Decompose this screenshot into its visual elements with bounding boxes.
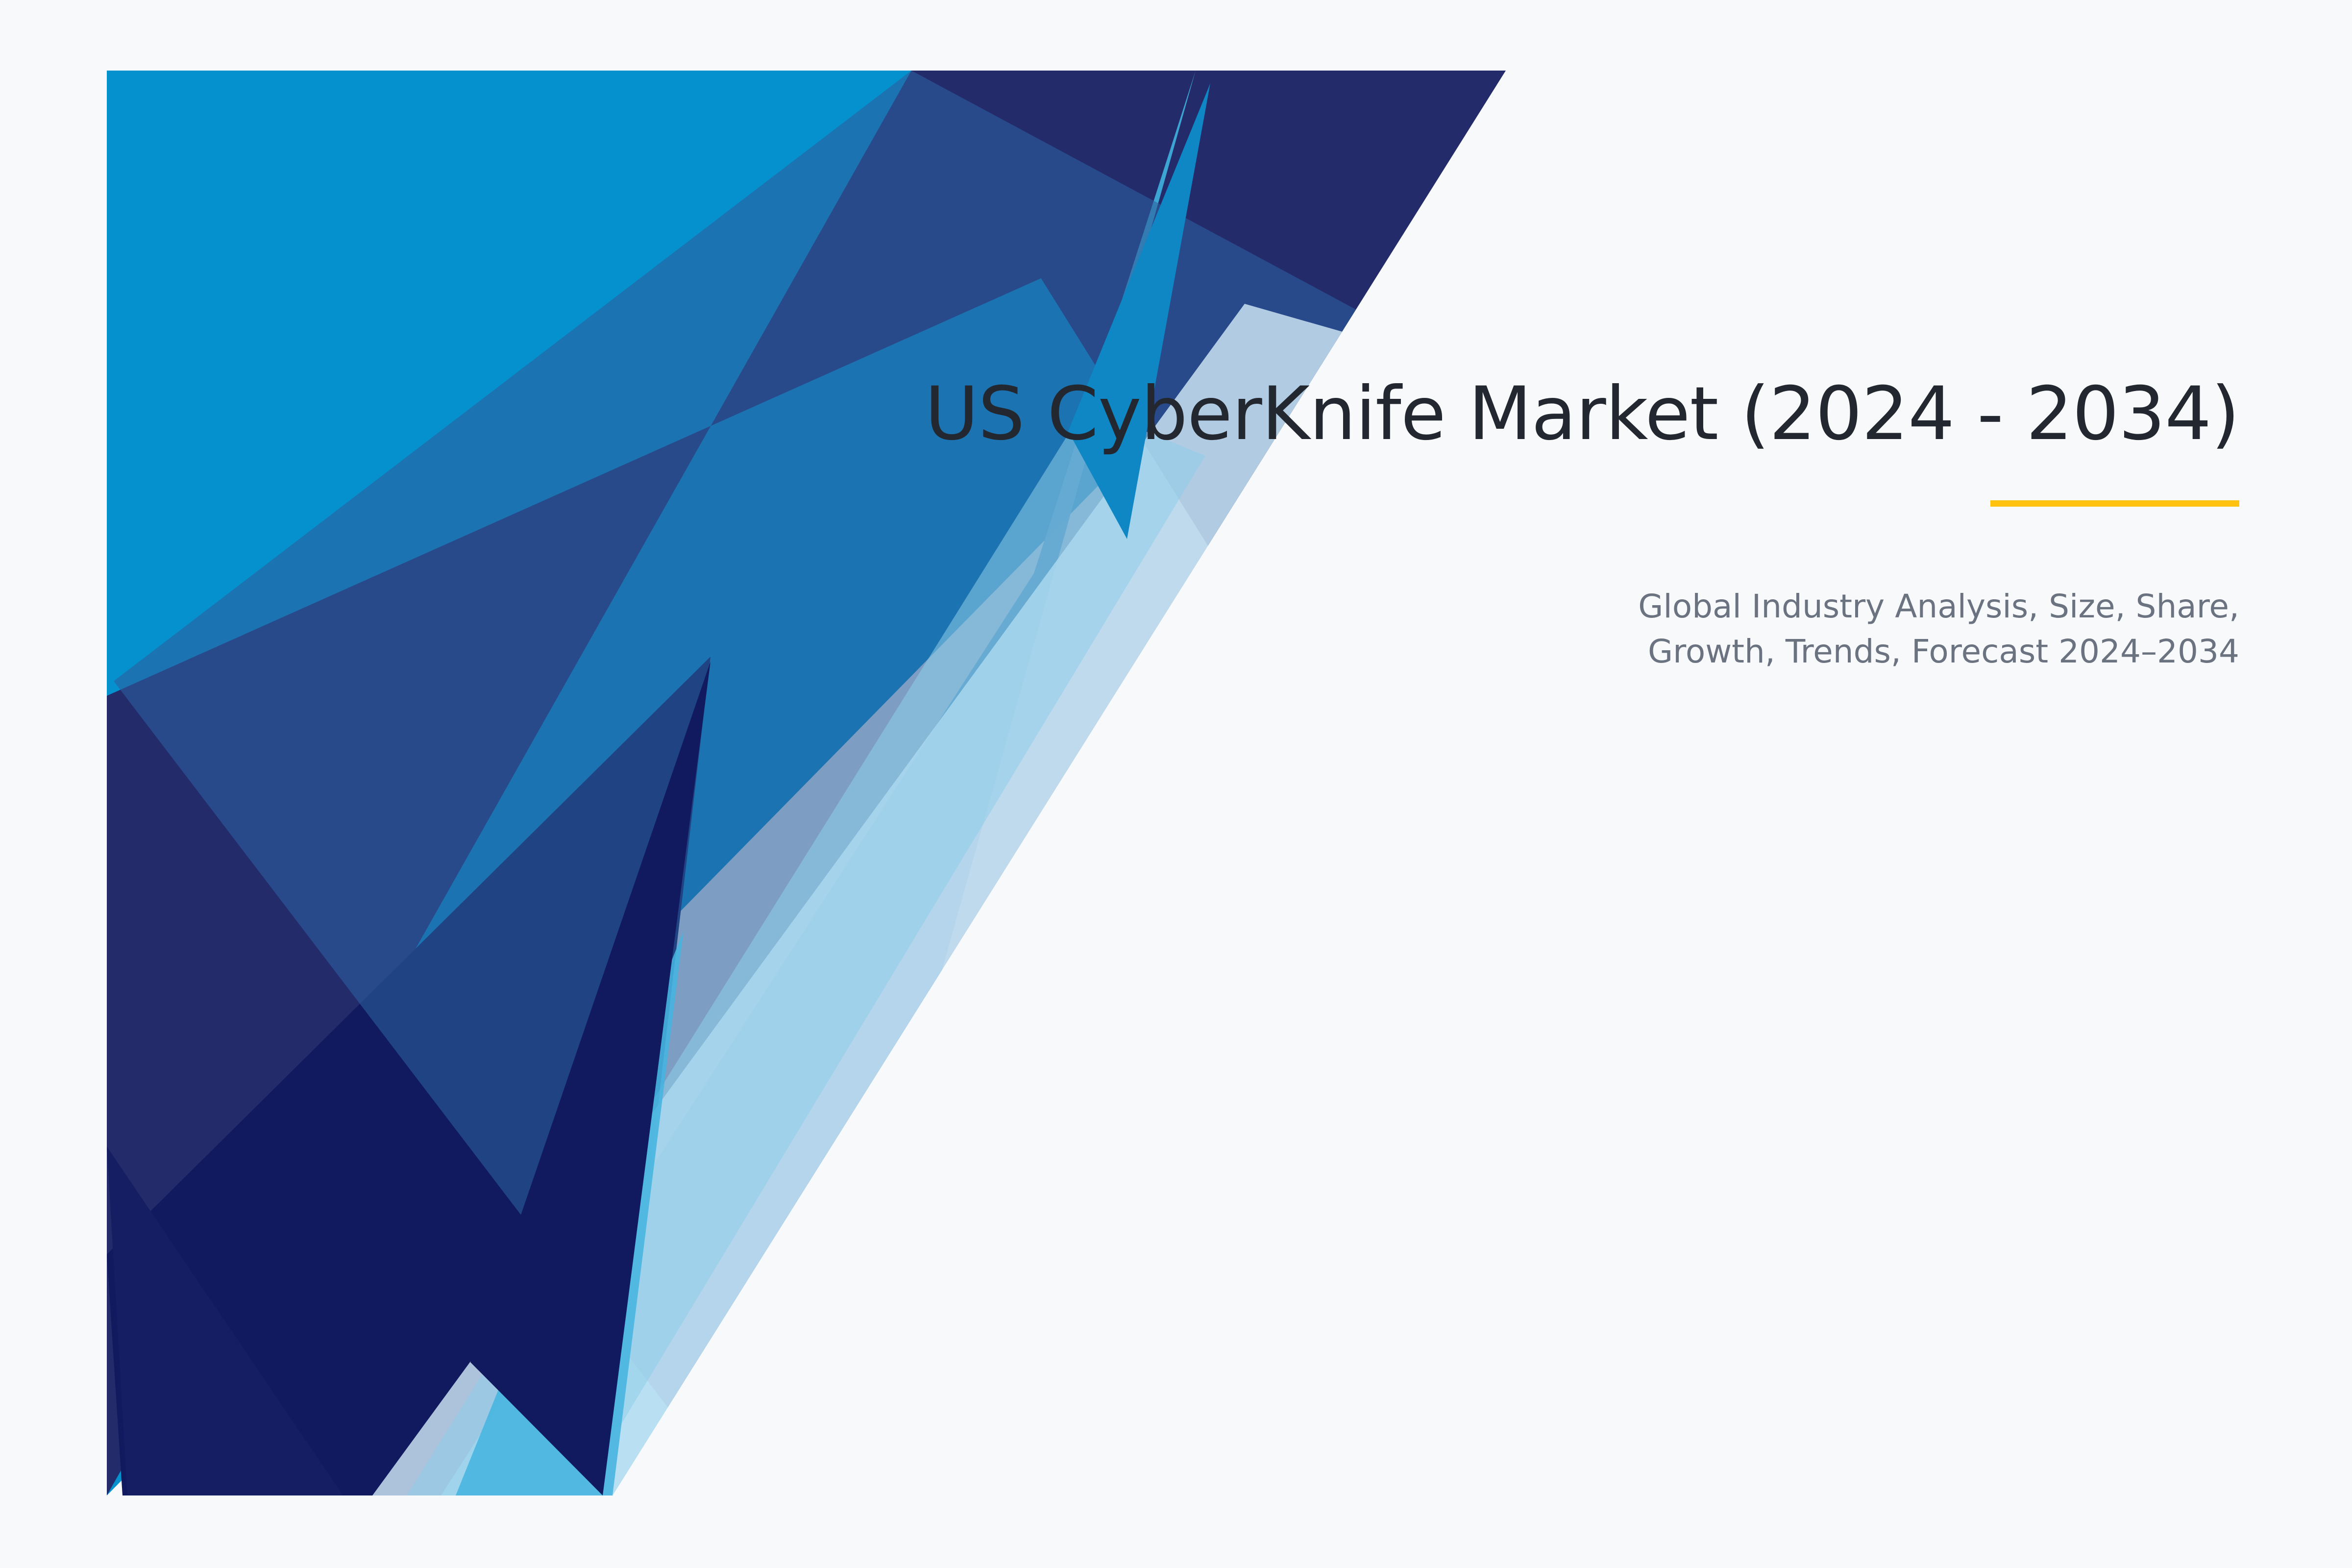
page-subtitle: Global Industry Analysis, Size, Share, G… [1588, 584, 2239, 675]
page-title: US CyberKnife Market (2024 - 2034) [769, 372, 2239, 456]
accent-rule-container [769, 500, 2239, 507]
title-text-block: US CyberKnife Market (2024 - 2034) Globa… [769, 372, 2239, 675]
abstract-geometric-artwork [0, 0, 2352, 1568]
title-slide: US CyberKnife Market (2024 - 2034) Globa… [0, 0, 2352, 1568]
accent-rule [1990, 500, 2239, 507]
